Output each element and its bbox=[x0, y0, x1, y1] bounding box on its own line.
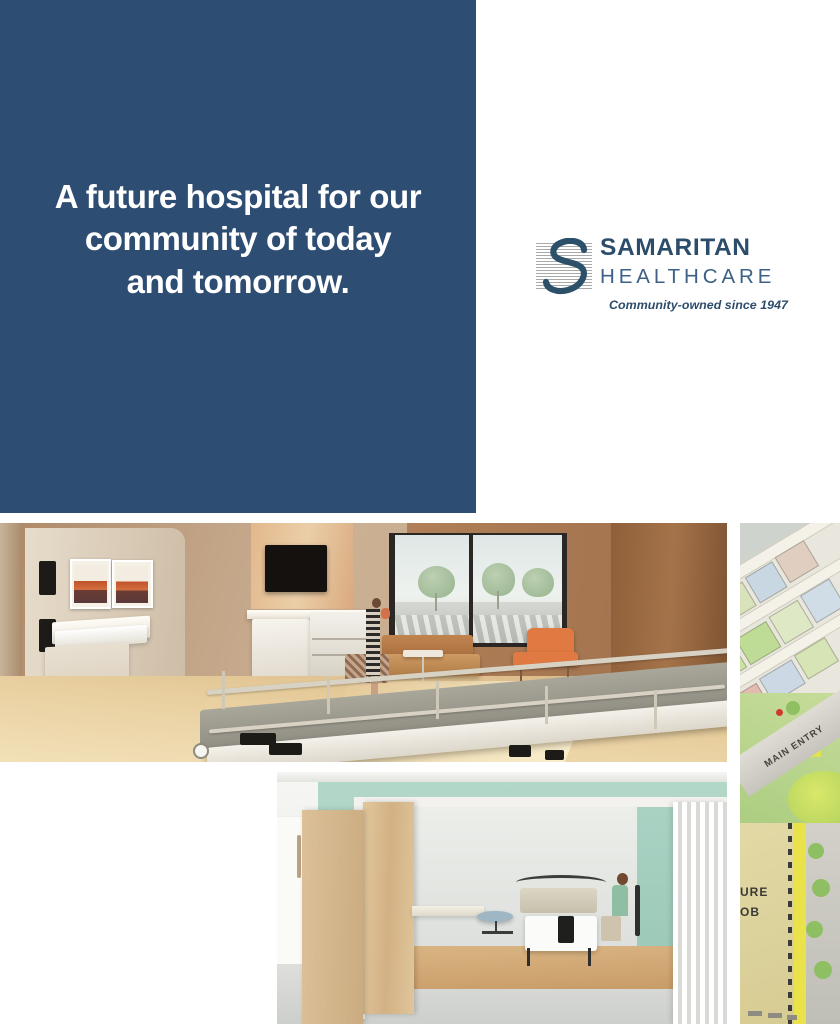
future-label-line-2: OB bbox=[740, 905, 760, 919]
exam-privacy-curtain bbox=[673, 802, 727, 1024]
site-tree-lower-4 bbox=[814, 961, 832, 979]
site-entry-road-yellow bbox=[794, 823, 806, 1024]
patient-room-rendering bbox=[0, 523, 727, 762]
wall-art-left bbox=[70, 559, 111, 609]
bed-control-pedal-4 bbox=[545, 750, 564, 760]
bed-rail-post-3 bbox=[436, 681, 439, 719]
clinician-stool-post bbox=[495, 921, 497, 934]
bed-rail-post-4 bbox=[545, 686, 548, 724]
site-tree-lower-3 bbox=[806, 921, 823, 938]
bed-rail-post-5 bbox=[654, 690, 657, 728]
wall-art-right bbox=[112, 560, 153, 608]
bed-rail-post-2 bbox=[327, 676, 330, 714]
future-label-line-1: URE bbox=[740, 885, 768, 899]
side-table-top bbox=[403, 650, 443, 657]
patient-shirt bbox=[612, 885, 628, 915]
exam-room-door bbox=[363, 802, 415, 1014]
brochure-cover-page: A future hospital for our community of t… bbox=[0, 0, 840, 1024]
exam-room-rendering bbox=[277, 772, 727, 1024]
cart-shelf-line-1 bbox=[312, 638, 369, 640]
site-parking-stripe-3 bbox=[787, 1015, 797, 1020]
site-tree-accent-1 bbox=[776, 709, 783, 716]
site-tree-lower-2 bbox=[812, 879, 830, 897]
bed-control-pedal-3 bbox=[509, 745, 531, 757]
exam-table-control-panel bbox=[558, 916, 573, 944]
patient-legs bbox=[601, 916, 621, 941]
bed-rail-post-1 bbox=[222, 671, 225, 709]
exam-door-return-panel bbox=[302, 810, 363, 1024]
logo-brand-sub: HEALTHCARE bbox=[600, 267, 788, 288]
samaritan-healthcare-logo: SAMARITAN HEALTHCARE Community-owned sin… bbox=[536, 236, 788, 316]
site-tree-1 bbox=[786, 701, 800, 715]
site-plan-rendering: MAIN ENTRY URE OB bbox=[740, 523, 840, 1024]
exam-table-leg-left bbox=[527, 948, 530, 966]
bed-caster-wheel bbox=[193, 743, 209, 759]
page-title: A future hospital for our community of t… bbox=[28, 176, 448, 303]
site-road-centerline bbox=[788, 823, 792, 1024]
exam-table-leg-right bbox=[588, 948, 591, 966]
hero-panel: A future hospital for our community of t… bbox=[0, 0, 476, 513]
site-tree-lower-1 bbox=[808, 843, 824, 859]
logo-wordmark: SAMARITAN HEALTHCARE bbox=[600, 236, 788, 287]
clinician-stool-base bbox=[482, 931, 514, 934]
site-parking-stripe-1 bbox=[748, 1011, 762, 1016]
samaritan-s-monogram-icon bbox=[536, 238, 596, 296]
logo-tagline: Community-owned since 1947 bbox=[600, 298, 788, 312]
exterior-tree-2-trunk bbox=[497, 591, 499, 608]
site-parking-stripe-2 bbox=[768, 1013, 782, 1018]
bed-control-pedal-2 bbox=[269, 743, 302, 755]
window-glass bbox=[395, 535, 562, 643]
exam-inner-wood-floor bbox=[385, 946, 682, 989]
exam-table-armrest bbox=[516, 875, 606, 890]
window-mullion bbox=[469, 535, 473, 643]
patient-chair bbox=[635, 885, 640, 935]
exam-cabinet-handle bbox=[297, 835, 301, 878]
child-in-arms bbox=[381, 608, 390, 619]
exterior-tree-1-trunk bbox=[435, 593, 437, 610]
exam-ceiling-band bbox=[277, 772, 727, 782]
exterior-tree-3 bbox=[522, 568, 554, 597]
exam-inner-counter bbox=[412, 906, 484, 916]
exam-table-pad bbox=[520, 888, 597, 913]
alcove-dark-inset-1 bbox=[39, 561, 56, 594]
wall-television-screen bbox=[265, 545, 327, 593]
wall-art-right-image bbox=[116, 566, 148, 603]
wall-art-left-image bbox=[74, 565, 107, 604]
caregiver-dress bbox=[366, 609, 380, 676]
patient-head bbox=[617, 873, 628, 885]
script-s-icon bbox=[540, 238, 592, 296]
logo-brand-name: SAMARITAN bbox=[600, 236, 788, 261]
site-future-pad bbox=[740, 823, 802, 1024]
